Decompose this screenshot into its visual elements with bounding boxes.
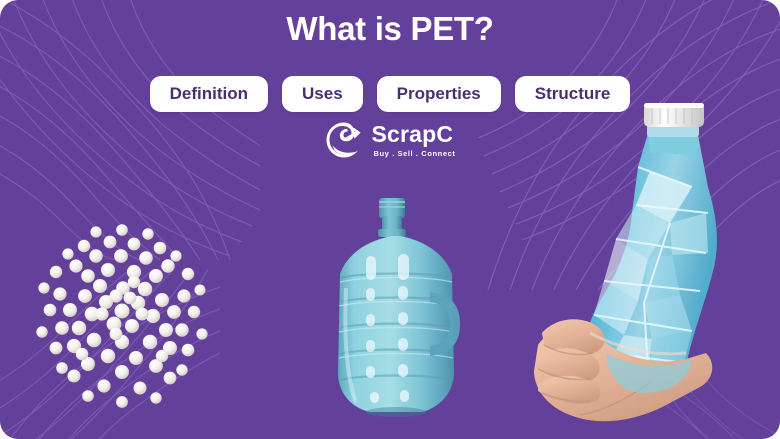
nav-pill-definition[interactable]: Definition [150,76,268,112]
logo-tagline: Buy . Sell . Connect [373,150,455,158]
pet-infographic-banner: What is PET? Definition Uses Properties … [0,0,780,439]
hand-holding-crushed-pet-bottle-image [520,95,780,439]
logo-text-block: ScrapC Buy . Sell . Connect [371,123,455,158]
page-title: What is PET? [0,8,780,50]
logo-name: ScrapC [371,123,453,146]
nav-pill-uses[interactable]: Uses [282,76,363,112]
pet-resin-pellets-image [22,206,222,416]
nav-pill-properties[interactable]: Properties [377,76,501,112]
pet-water-jug-image [326,196,466,421]
scrapc-swoosh-globe-icon [324,120,364,160]
